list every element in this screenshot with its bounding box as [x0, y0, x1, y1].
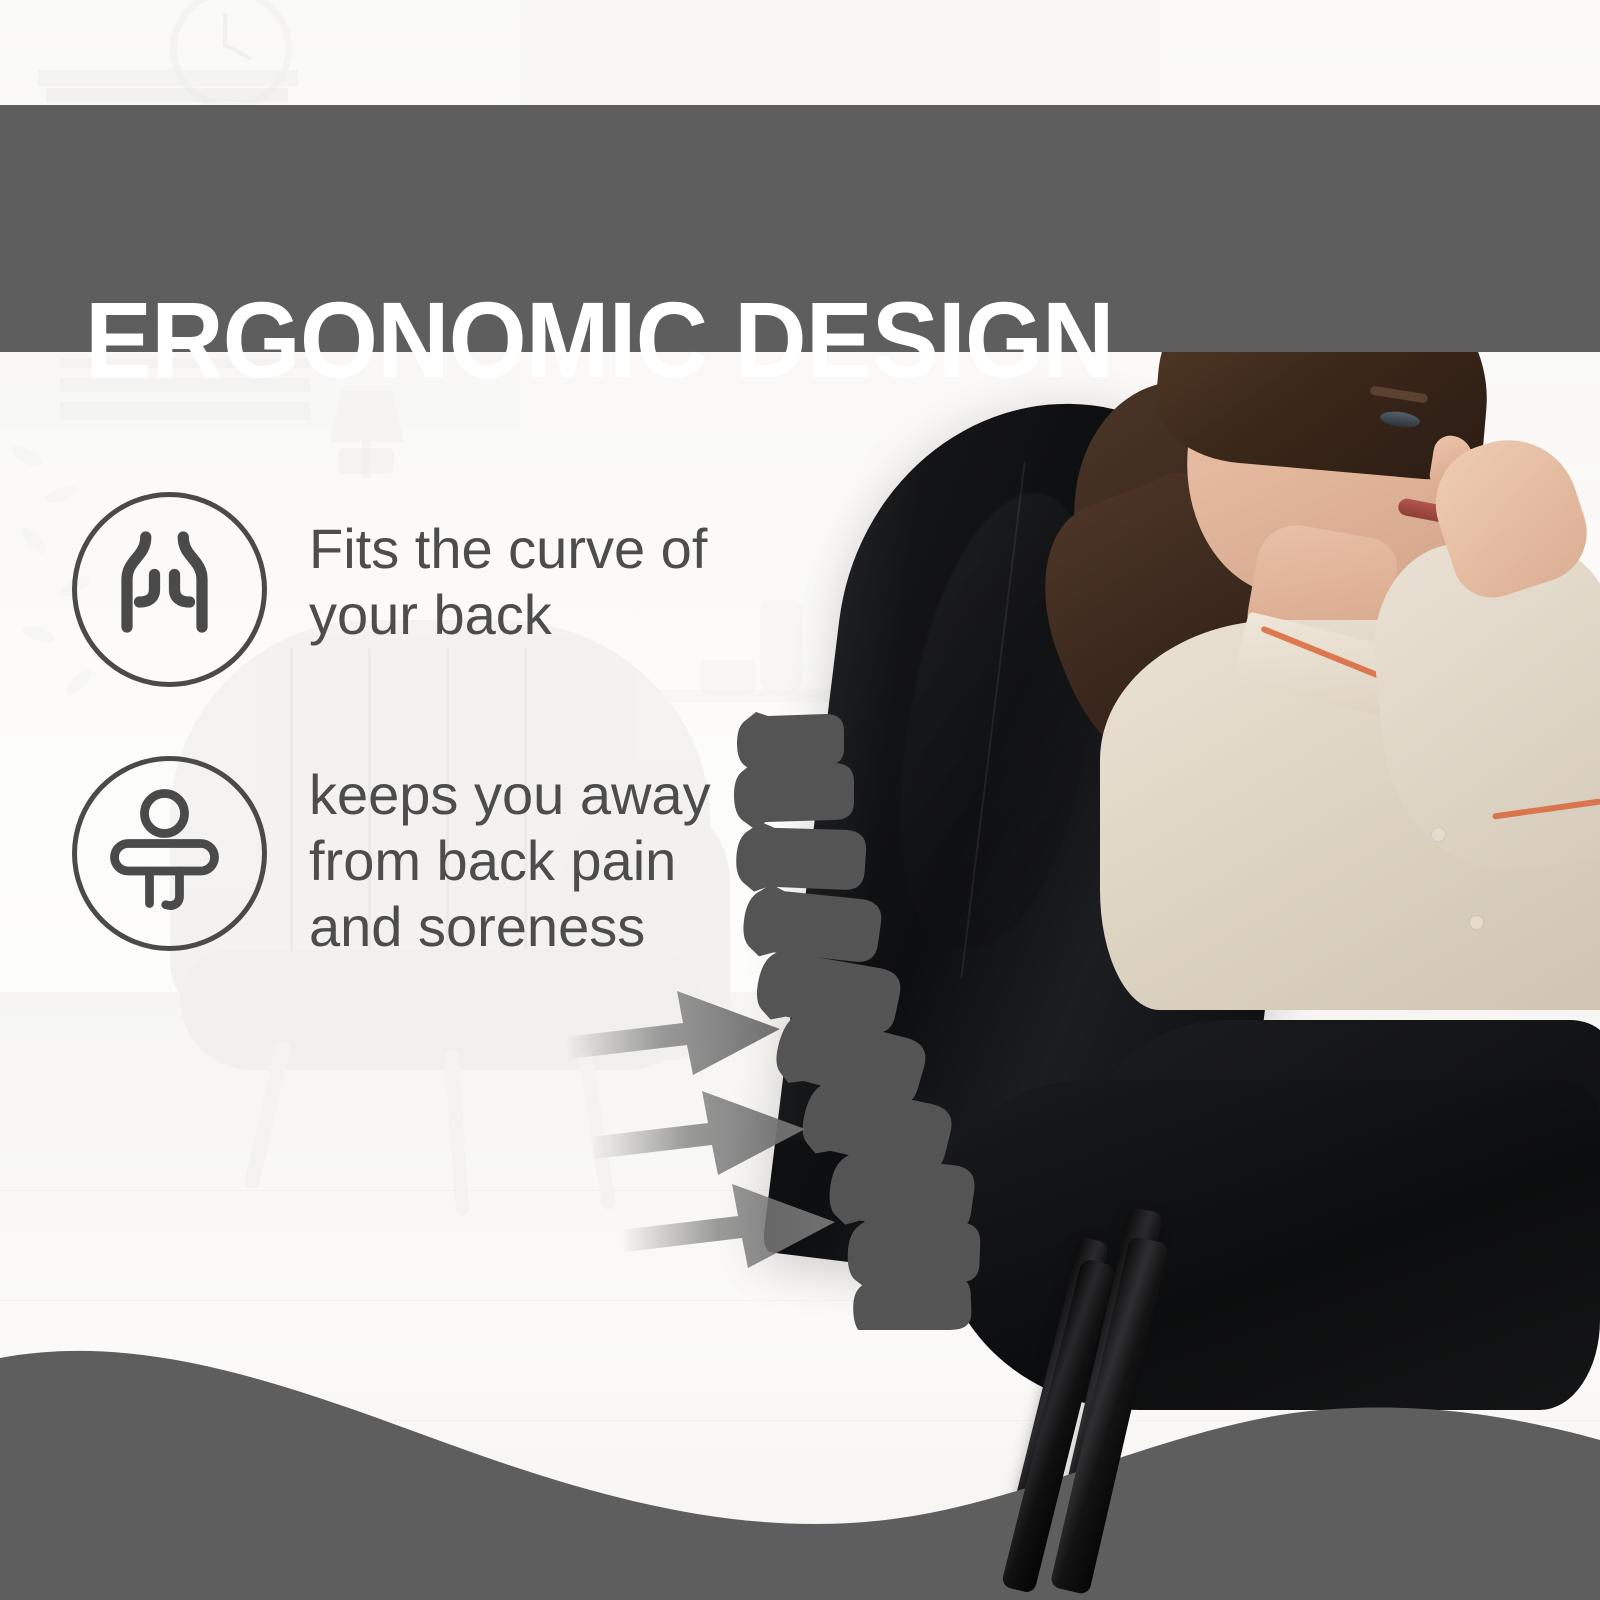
- page-title: ERGONOMIC DESIGN: [85, 286, 1114, 394]
- body-posture-icon: [72, 756, 267, 951]
- shirt-button: [1470, 916, 1483, 929]
- bottom-wave: [0, 1270, 1600, 1600]
- feature-label: keeps you away from back pain and sorene…: [309, 762, 711, 960]
- shirt-button: [1432, 828, 1445, 841]
- feature-item-posture: keeps you away from back pain and sorene…: [72, 756, 711, 960]
- feature-item-back-curve: Fits the curve of your back: [72, 492, 707, 687]
- lamp-base: [338, 448, 394, 474]
- feature-label: Fits the curve of your back: [309, 516, 707, 648]
- model-woman: [1040, 240, 1600, 1000]
- header-banner: ERGONOMIC DESIGN: [0, 105, 1600, 352]
- books-stack: [38, 70, 298, 86]
- infographic-canvas: ERGONOMIC DESIGN Fits the curve of your …: [0, 0, 1600, 1600]
- support-arrow-1: [565, 985, 785, 1080]
- support-arrow-3: [620, 1178, 840, 1273]
- books-stack-lower: [46, 88, 288, 102]
- back-curve-icon: [72, 492, 267, 687]
- support-arrow-2: [590, 1085, 810, 1180]
